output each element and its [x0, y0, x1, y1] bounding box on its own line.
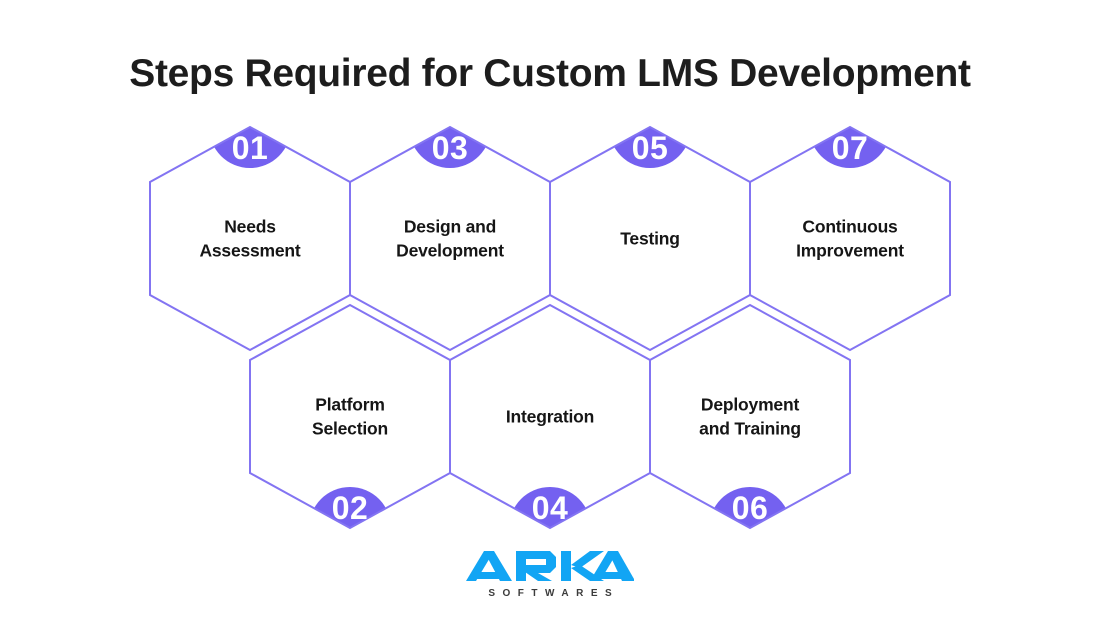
step-label-line: Continuous	[802, 217, 898, 237]
step-label-line: Integration	[506, 407, 594, 427]
hex-step-03[interactable]: 03Design andDevelopment	[350, 86, 550, 350]
step-label-line: Design and	[404, 217, 496, 237]
step-number: 06	[732, 490, 769, 526]
step-number: 03	[432, 130, 469, 166]
step-number: 05	[632, 130, 669, 166]
step-label-line: Needs	[224, 217, 276, 237]
hex-step-02[interactable]: 02PlatformSelection	[250, 305, 450, 569]
step-number: 01	[232, 130, 269, 166]
honeycomb-process-diagram: 01NeedsAssessment02PlatformSelection03De…	[0, 0, 1100, 620]
step-label-line: Assessment	[199, 241, 300, 261]
step-number: 04	[532, 490, 569, 526]
step-label-line: Testing	[620, 229, 680, 249]
step-label-line: and Training	[699, 419, 801, 439]
hexagon-layer: 01NeedsAssessment02PlatformSelection03De…	[150, 86, 950, 569]
hex-step-04[interactable]: 04Integration	[450, 305, 650, 569]
step-number: 02	[332, 490, 369, 526]
step-label-line: Deployment	[701, 395, 800, 415]
arka-wordmark-icon	[464, 548, 636, 584]
step-number: 07	[832, 130, 869, 166]
hex-step-05[interactable]: 05Testing	[550, 86, 750, 350]
step-label-line: Platform	[315, 395, 384, 415]
step-label-line: Selection	[312, 419, 388, 439]
hex-step-06[interactable]: 06Deploymentand Training	[650, 305, 850, 569]
logo-tagline: SOFTWARES	[0, 588, 1100, 599]
brand-logo: SOFTWARES	[0, 548, 1100, 599]
hex-step-07[interactable]: 07ContinuousImprovement	[750, 86, 950, 350]
hex-step-01[interactable]: 01NeedsAssessment	[150, 86, 350, 350]
step-label-line: Improvement	[796, 241, 904, 261]
step-label-line: Development	[396, 241, 504, 261]
